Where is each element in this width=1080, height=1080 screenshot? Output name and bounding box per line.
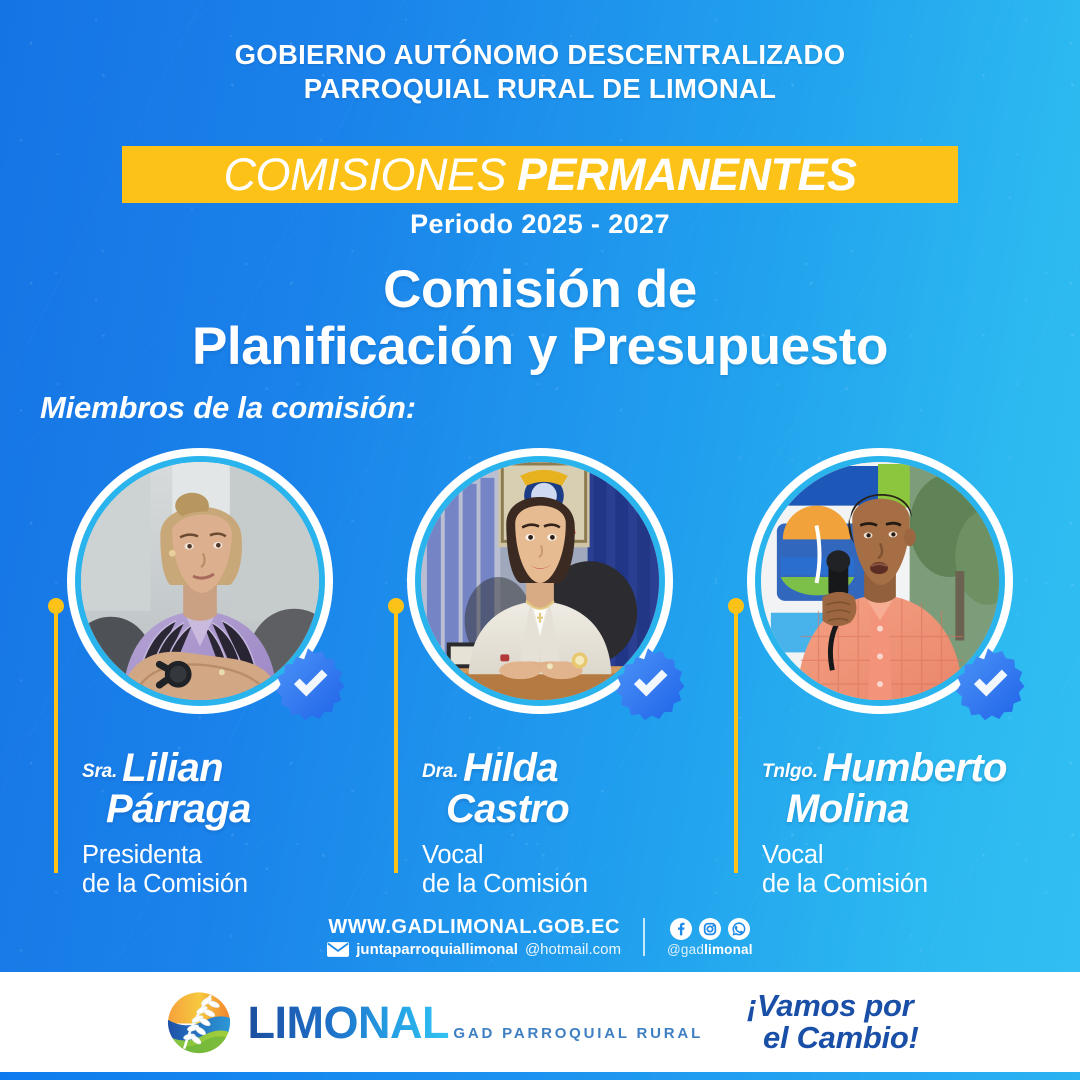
member-name: Sra.Lilian Párraga [82,748,370,830]
contact-bar: WWW.GADLIMONAL.GOB.EC juntaparroquiallim… [0,916,1080,958]
member-role-line1: Presidenta [82,841,370,871]
mail-icon [327,942,349,957]
instagram-icon[interactable] [699,918,721,940]
email-domain: @hotmail.com [525,941,621,958]
member-first-name: Lilian [122,746,223,790]
period-label: Periodo 2025 - 2027 [0,209,1080,240]
social-icons [667,918,753,940]
member-photo-wrapper [67,448,333,714]
member-last-name: Castro [422,789,710,830]
banner-text: COMISIONESPERMANENTES [223,152,856,197]
brand-name: LIMONAL [248,997,449,1048]
whatsapp-icon[interactable] [728,918,750,940]
social-handle: @gadlimonal [667,942,753,957]
members-list: Sra.Lilian Párraga Presidenta de la Comi… [0,448,1080,714]
contact-right: @gadlimonal [667,918,753,957]
member-role: Vocal de la Comisión [762,841,1050,900]
email-row[interactable]: juntaparroquiallimonal@hotmail.com [327,941,621,958]
member-last-name: Párraga [82,789,370,830]
member-first-name: Humberto [823,746,1007,790]
poster: GOBIERNO AUTÓNOMO DESCENTRALIZADO PARROQ… [0,0,1080,1080]
member-info: Sra.Lilian Párraga Presidenta de la Comi… [30,748,370,900]
handle-name: limonal [704,942,753,957]
banner-word-comisiones: COMISIONES [223,149,506,200]
commission-title-line2: Planificación y Presupuesto [0,319,1080,376]
member-role-line2: de la Comisión [762,870,1050,900]
limonal-brand-text: LIMONAL GAD PARROQUIAL RURAL [248,1000,704,1045]
verified-badge-icon [271,646,345,720]
member-role: Vocal de la Comisión [422,841,710,900]
member-name: Dra.Hilda Castro [422,748,710,830]
limonal-brand: LIMONAL GAD PARROQUIAL RURAL [162,985,704,1059]
email-user: juntaparroquiallimonal [356,941,518,958]
member-honorific: Sra. [82,761,117,782]
members-label: Miembros de la comisión: [40,390,416,426]
limonal-emblem-icon [162,985,236,1059]
member-honorific: Tnlgo. [762,761,818,782]
member-name: Tnlgo.Humberto Molina [762,748,1050,830]
member-photo-wrapper [407,448,673,714]
member-info: Dra.Hilda Castro Vocal de la Comisión [370,748,710,900]
handle-prefix: @gad [667,942,704,957]
member-info: Tnlgo.Humberto Molina Vocal de la Comisi… [710,748,1050,900]
member-role-line2: de la Comisión [422,870,710,900]
bottom-accent-strip [0,1072,1080,1080]
footer-bar: LIMONAL GAD PARROQUIAL RURAL ¡Vamos por … [0,972,1080,1072]
member-photo-wrapper [747,448,1013,714]
contact-divider [643,918,645,956]
slogan-line2: el Cambio! [747,1022,918,1054]
slogan-line1: ¡Vamos por [747,990,918,1022]
member-card: Tnlgo.Humberto Molina Vocal de la Comisi… [710,448,1050,714]
verified-badge-icon [951,646,1025,720]
brand-subtitle: GAD PARROQUIAL RURAL [453,1025,703,1042]
member-last-name: Molina [762,789,1050,830]
facebook-icon[interactable] [670,918,692,940]
commissions-banner: COMISIONESPERMANENTES [122,146,958,203]
member-role-line1: Vocal [422,841,710,871]
member-role-line2: de la Comisión [82,870,370,900]
org-title-line2: PARROQUIAL RURAL DE LIMONAL [0,72,1080,106]
slogan: ¡Vamos por el Cambio! [747,990,918,1054]
website-link[interactable]: WWW.GADLIMONAL.GOB.EC [327,916,621,939]
organization-title: GOBIERNO AUTÓNOMO DESCENTRALIZADO PARROQ… [0,38,1080,105]
org-title-line1: GOBIERNO AUTÓNOMO DESCENTRALIZADO [0,38,1080,72]
member-card: Sra.Lilian Párraga Presidenta de la Comi… [30,448,370,714]
member-card: Dra.Hilda Castro Vocal de la Comisión [370,448,710,714]
member-first-name: Hilda [463,746,558,790]
member-role-line1: Vocal [762,841,1050,871]
member-honorific: Dra. [422,761,458,782]
contact-left: WWW.GADLIMONAL.GOB.EC juntaparroquiallim… [327,916,621,958]
member-role: Presidenta de la Comisión [82,841,370,900]
commission-title-line1: Comisión de [0,262,1080,319]
commission-title: Comisión de Planificación y Presupuesto [0,262,1080,375]
banner-word-permanentes: PERMANENTES [517,149,857,200]
verified-badge-icon [611,646,685,720]
